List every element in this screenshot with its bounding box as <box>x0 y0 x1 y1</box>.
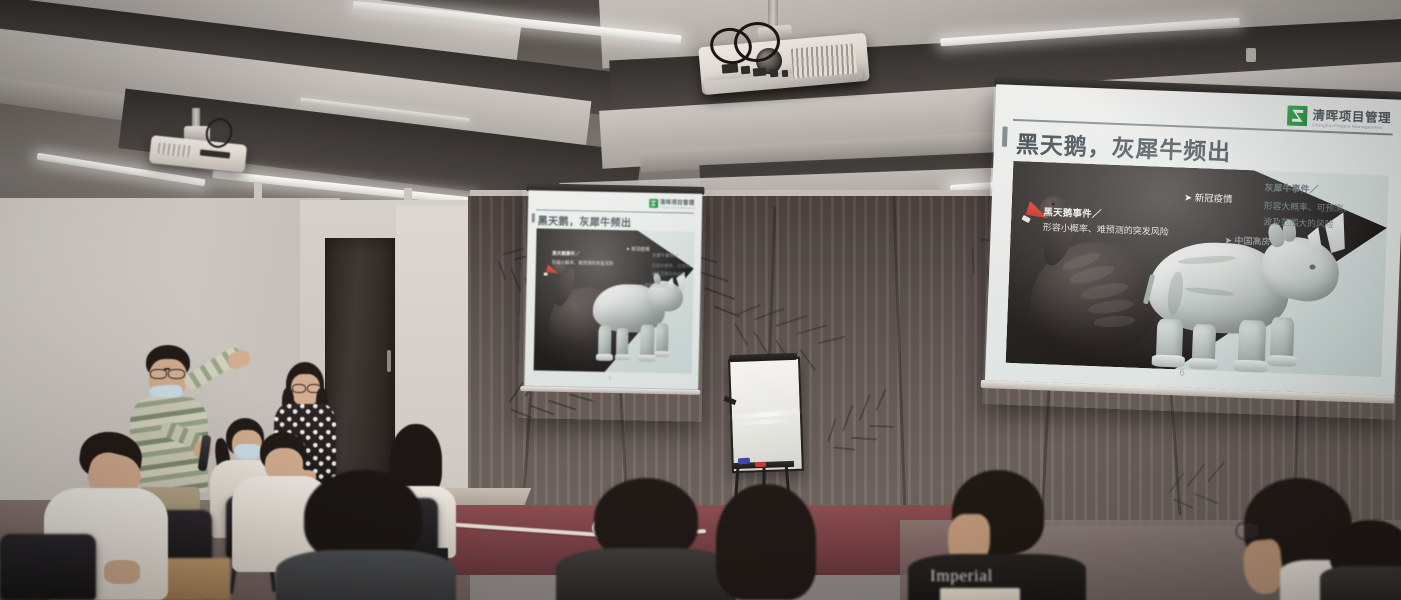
tshirt-text: Imperial <box>930 566 993 586</box>
slide-bullet-housing: ➤ 中国高房价 <box>1224 233 1280 248</box>
shirt <box>1320 566 1401 600</box>
attendee-right-edge <box>1330 520 1401 600</box>
attendee-foreground-dark <box>276 470 456 600</box>
slide-right: 清晖项目管理 Chinghui Project Management 黑天鹅，灰… <box>985 84 1401 396</box>
marker-red[interactable] <box>755 462 766 467</box>
projection-screen-right: 清晖项目管理 Chinghui Project Management 黑天鹅，灰… <box>982 84 1401 420</box>
projector-main <box>694 10 876 106</box>
marker-blue[interactable] <box>738 458 750 465</box>
slide-right-heading: 灰犀牛事件／ <box>1264 181 1318 196</box>
slide-left-heading: 黑天鹅事件／ <box>552 251 580 258</box>
shirt <box>276 550 456 600</box>
attendee-imperial-tshirt: Imperial <box>908 470 1088 600</box>
ceiling-mount <box>254 182 262 198</box>
hand-near-face <box>1241 538 1284 596</box>
door-handle[interactable] <box>387 350 391 372</box>
slide-right-heading: 灰犀牛事件／ <box>652 253 678 260</box>
hands <box>104 560 140 584</box>
logo-text-en: Chinghui Project Management <box>660 206 696 209</box>
slide-bullet-2: ➤ 中国高房价 <box>639 283 666 290</box>
slide-page-number: 6 <box>1179 367 1185 378</box>
slide-logo: 清晖项目管理 Chinghui Project Management <box>649 198 697 210</box>
title-tick <box>1002 127 1008 147</box>
slide-page-number: 6 <box>608 376 611 382</box>
ceiling-mount <box>1246 48 1256 62</box>
chair <box>0 534 96 600</box>
tshirt-graphic <box>940 588 1020 600</box>
slide-right-body-2: 波及范围大的风险 <box>652 271 686 278</box>
projector-secondary <box>150 118 246 174</box>
slide-title-right: 黑天鹅，灰犀牛频出 <box>1015 125 1231 167</box>
logo-mark-icon <box>649 199 658 208</box>
hair <box>716 484 816 600</box>
slide-left-heading: 黑天鹅事件／ <box>1043 204 1102 220</box>
projector-vent <box>791 43 857 78</box>
slide-right-body-2: 波及范围大的风险 <box>1263 215 1334 231</box>
flip-chart-board[interactable] <box>728 357 804 473</box>
slide-artwork-left: 黑天鹅事件／ 形容小概率、难预测的突发风险 ➤ 新冠疫情 灰犀牛事件／ 形容大概… <box>534 228 695 373</box>
slide-logo: 清晖项目管理 Chinghui Project Management <box>1287 103 1392 131</box>
slide-left-body: 形容小概率、难预测的突发风险 <box>552 260 614 267</box>
glasses-icon <box>150 369 167 379</box>
glasses-icon <box>292 384 306 393</box>
conference-room-photo: 清晖项目管理 Chinghui Project Management 黑天鹅，灰… <box>0 0 1401 600</box>
glasses-icon <box>1236 522 1260 540</box>
slide-title-left: 黑天鹅，灰犀牛频出 <box>538 212 632 229</box>
glasses-icon <box>168 369 185 379</box>
projection-screen-left: 清晖项目管理 Chinghui Project Management 黑天鹅，灰… <box>518 190 707 422</box>
logo-mark-icon <box>1287 105 1308 126</box>
slide-left: 清晖项目管理 Chinghui Project Management 黑天鹅，灰… <box>524 190 702 390</box>
glasses-bridge <box>164 368 170 370</box>
attendee-long-hair-foreground <box>694 484 836 600</box>
slide-right-body-1: 形容大概率、可预测、 <box>652 263 694 270</box>
slide-bullet-covid: ➤ 新冠疫情 <box>1184 190 1233 206</box>
slide-bullet-1: ➤ 新冠疫情 <box>626 246 650 252</box>
slide-artwork-right: 黑天鹅事件／ 形容小概率、难预测的突发风险 ➤ 新冠疫情 灰犀牛事件／ 形容大概… <box>1006 161 1389 377</box>
